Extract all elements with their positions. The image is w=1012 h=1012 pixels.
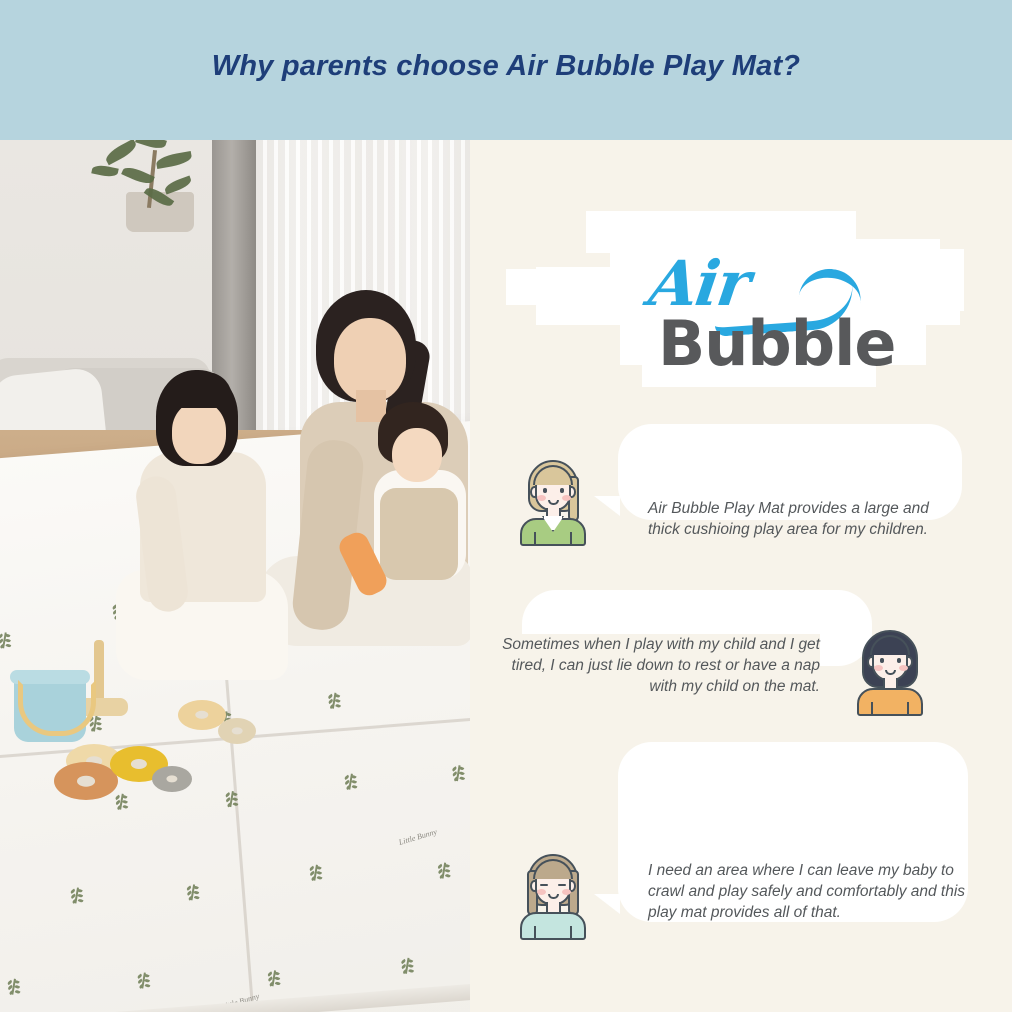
infographic-page: Why parents choose Air Bubble Play Mat? (0, 0, 1012, 1012)
avatar-sweater-fold (534, 532, 536, 546)
avatar-eye (897, 658, 901, 663)
testimonial-2: Sometimes when I play with my child and … (470, 588, 1012, 728)
speech-bubble-tail-icon (594, 894, 620, 914)
avatar-sweater-fold (570, 926, 572, 940)
content-panel: Air Bubble (470, 140, 1012, 1012)
photo-toy-ring (54, 762, 118, 800)
photo-girl-bangs (164, 372, 232, 408)
photo-baby-overall (380, 488, 458, 580)
avatar-brownhair-mint (518, 850, 588, 940)
photo-girl-face (172, 402, 226, 464)
mat-brand-script: Little Bunny (398, 827, 438, 847)
avatar-cheek (537, 495, 546, 501)
avatar-cheek (899, 665, 908, 671)
speech-bubble-tail-icon (594, 496, 620, 516)
brand-logo: Air Bubble (500, 195, 980, 395)
avatar-eye (543, 488, 547, 493)
avatar-sweater-fold (534, 926, 536, 940)
avatar-cheek (537, 889, 546, 895)
testimonial-quote: Air Bubble Play Mat provides a large and… (648, 498, 958, 540)
avatar-cheek (562, 495, 571, 501)
avatar-blonde-green (518, 456, 588, 546)
logo-bubble-text: Bubble (658, 307, 895, 380)
avatar-cheek (562, 889, 571, 895)
header-banner: Why parents choose Air Bubble Play Mat? (0, 0, 1012, 140)
testimonial-1: Air Bubble Play Mat provides a large and… (470, 418, 1012, 568)
avatar-sweater-fold (907, 702, 909, 716)
avatar-cheek (874, 665, 883, 671)
avatar-sweater (857, 688, 923, 716)
testimonial-3: I need an area where I can leave my baby… (470, 738, 1012, 918)
avatar-sweater-fold (570, 532, 572, 546)
photo-toy-bucket-handle (18, 680, 96, 736)
photo-toy-ring (152, 766, 192, 792)
avatar-darkbob-orange (855, 626, 925, 716)
page-title: Why parents choose Air Bubble Play Mat? (212, 50, 800, 83)
avatar-sweater-fold (871, 702, 873, 716)
logo-paint-stroke (506, 269, 626, 305)
photo-toy-ring (218, 718, 256, 744)
testimonial-quote: I need an area where I can leave my baby… (648, 860, 968, 923)
avatar-eye (560, 488, 564, 493)
lifestyle-photo: Little Bunny Little Bunny (0, 140, 470, 1012)
avatar-eye (880, 658, 884, 663)
photo-baby-face (392, 428, 442, 482)
avatar-sweater (520, 912, 586, 940)
